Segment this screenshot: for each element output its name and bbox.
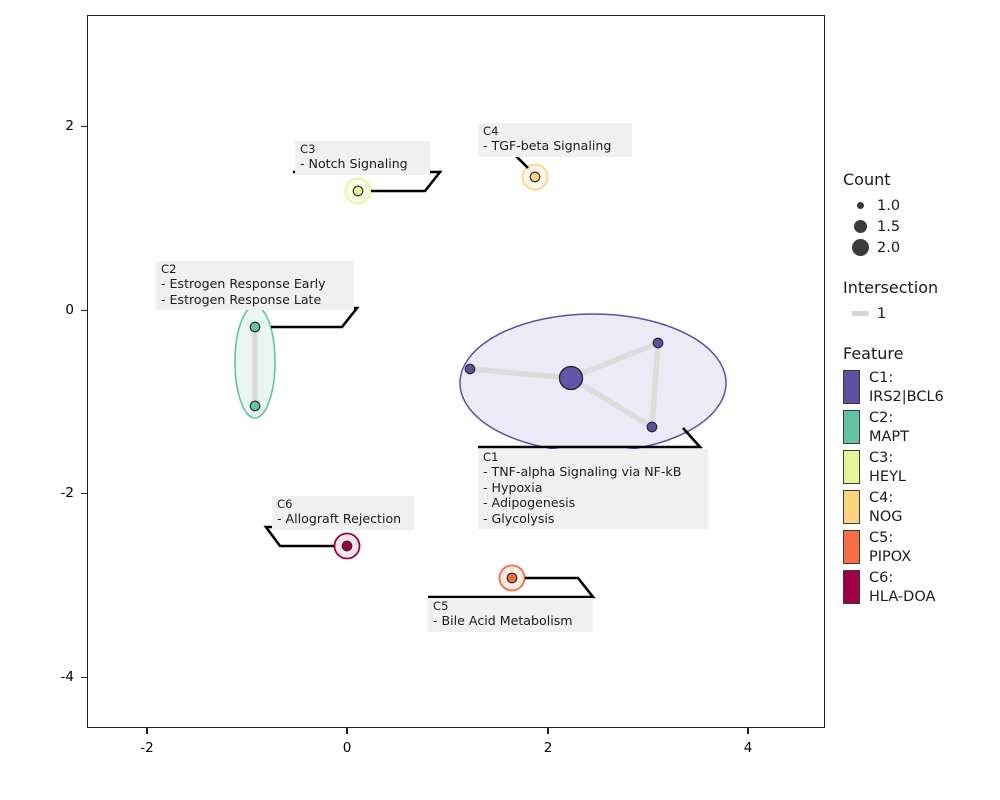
- cluster-label-c3-term1: - Notch Signaling: [300, 156, 426, 172]
- legend-count-item-1[interactable]: 1.0: [843, 195, 998, 216]
- x-tick-label-neg2: -2: [140, 740, 153, 756]
- legend-intersection-title: Intersection: [843, 278, 998, 297]
- cluster-label-c2-id: C2: [161, 263, 350, 276]
- legend-feature-id-c3: C3:: [869, 450, 893, 466]
- legend-panel: Count 1.0 1.5 2.0 Intersection 1 Feature: [843, 170, 998, 629]
- legend-count-dot-3: [843, 239, 877, 256]
- legend-count-dot-2: [843, 220, 877, 233]
- cluster-label-c6-term1: - Allograft Rejection: [277, 511, 410, 527]
- legend-feature-item-c4[interactable]: C4: NOG: [843, 489, 998, 529]
- legend-intersection-item-1[interactable]: 1: [843, 303, 998, 324]
- y-tickmark-2: [81, 126, 87, 127]
- cluster-label-c5: C5 - Bile Acid Metabolism: [428, 598, 593, 632]
- legend-feature-name-c2: MAPT: [869, 429, 909, 445]
- legend-count-label-1: 1.0: [877, 198, 900, 214]
- legend-feature-swatch-c5: [843, 529, 869, 564]
- cluster-label-c1-id: C1: [483, 451, 704, 464]
- x-tick-label-0: 0: [343, 740, 352, 756]
- legend-feature-id-c1: C1:: [869, 370, 893, 386]
- legend-feature-name-c6: HLA-DOA: [869, 589, 935, 605]
- cluster-label-c3: C3 - Notch Signaling: [295, 141, 430, 175]
- cluster-label-c6: C6 - Allograft Rejection: [272, 496, 414, 530]
- x-tickmark-0: [346, 728, 347, 734]
- x-tickmark-neg2: [146, 728, 147, 734]
- cluster-label-c4-term1: - TGF-beta Signaling: [483, 138, 628, 154]
- x-tickmark-4: [747, 728, 748, 734]
- legend-feature-item-c1[interactable]: C1: IRS2|BCL6: [843, 369, 998, 409]
- x-tick-label-2: 2: [544, 740, 553, 756]
- cluster-label-c4-id: C4: [483, 125, 628, 138]
- legend-count: Count 1.0 1.5 2.0: [843, 170, 998, 258]
- legend-feature-name-c5: PIPOX: [869, 549, 911, 565]
- figure-root: 2 0 -2 -4 -2 0 2 4: [0, 0, 1000, 800]
- cluster-label-c2-term1: - Estrogen Response Early: [161, 276, 350, 292]
- y-tickmark-neg2: [81, 493, 87, 494]
- legend-feature: Feature C1: IRS2|BCL6 C2: MAPT C3:: [843, 344, 998, 609]
- legend-count-dot-1: [843, 202, 877, 209]
- legend-feature-item-c2[interactable]: C2: MAPT: [843, 409, 998, 449]
- legend-count-item-3[interactable]: 2.0: [843, 237, 998, 258]
- legend-intersection-label-1: 1: [877, 306, 886, 322]
- legend-feature-id-c5: C5:: [869, 530, 893, 546]
- cluster-label-c6-id: C6: [277, 498, 410, 511]
- legend-feature-title: Feature: [843, 344, 998, 363]
- cluster-label-c5-id: C5: [433, 600, 589, 613]
- cluster-label-c2-term2: - Estrogen Response Late: [161, 292, 350, 308]
- legend-feature-item-c5[interactable]: C5: PIPOX: [843, 529, 998, 569]
- cluster-label-c1-term4: - Glycolysis: [483, 511, 704, 527]
- legend-feature-swatch-c3: [843, 449, 869, 484]
- legend-feature-id-c2: C2:: [869, 410, 893, 426]
- legend-count-label-2: 1.5: [877, 219, 900, 235]
- x-tickmark-2: [547, 728, 548, 734]
- legend-feature-swatch-c1: [843, 369, 869, 404]
- legend-feature-name-c3: HEYL: [869, 469, 906, 485]
- cluster-label-c4: C4 - TGF-beta Signaling: [478, 123, 632, 157]
- legend-count-title: Count: [843, 170, 998, 189]
- y-tick-label-neg2: -2: [40, 485, 74, 501]
- legend-count-item-2[interactable]: 1.5: [843, 216, 998, 237]
- legend-intersection-line-1: [843, 311, 877, 316]
- cluster-label-c1-term3: - Adipogenesis: [483, 495, 704, 511]
- legend-feature-name-c4: NOG: [869, 509, 903, 525]
- legend-feature-item-c6[interactable]: C6: HLA-DOA: [843, 569, 998, 609]
- y-tickmark-0: [81, 310, 87, 311]
- cluster-label-c3-id: C3: [300, 143, 426, 156]
- legend-intersection: Intersection 1: [843, 278, 998, 324]
- cluster-label-c1-term1: - TNF-alpha Signaling via NF-kB: [483, 464, 704, 480]
- y-tick-label-2: 2: [40, 118, 74, 134]
- legend-count-label-3: 2.0: [877, 240, 900, 256]
- legend-feature-swatch-c2: [843, 409, 869, 444]
- legend-feature-id-c6: C6:: [869, 570, 893, 586]
- cluster-label-c2: C2 - Estrogen Response Early - Estrogen …: [156, 261, 354, 310]
- x-tick-label-4: 4: [744, 740, 753, 756]
- legend-feature-id-c4: C4:: [869, 490, 893, 506]
- y-tickmark-neg4: [81, 677, 87, 678]
- legend-feature-swatch-c4: [843, 489, 869, 524]
- legend-feature-swatch-c6: [843, 569, 869, 604]
- y-tick-label-neg4: -4: [40, 669, 74, 685]
- legend-feature-name-c1: IRS2|BCL6: [869, 389, 944, 405]
- cluster-label-c1-term2: - Hypoxia: [483, 480, 704, 496]
- y-tick-label-0: 0: [40, 302, 74, 318]
- cluster-label-c1: C1 - TNF-alpha Signaling via NF-kB - Hyp…: [478, 449, 708, 529]
- legend-feature-item-c3[interactable]: C3: HEYL: [843, 449, 998, 489]
- cluster-label-c5-term1: - Bile Acid Metabolism: [433, 613, 589, 629]
